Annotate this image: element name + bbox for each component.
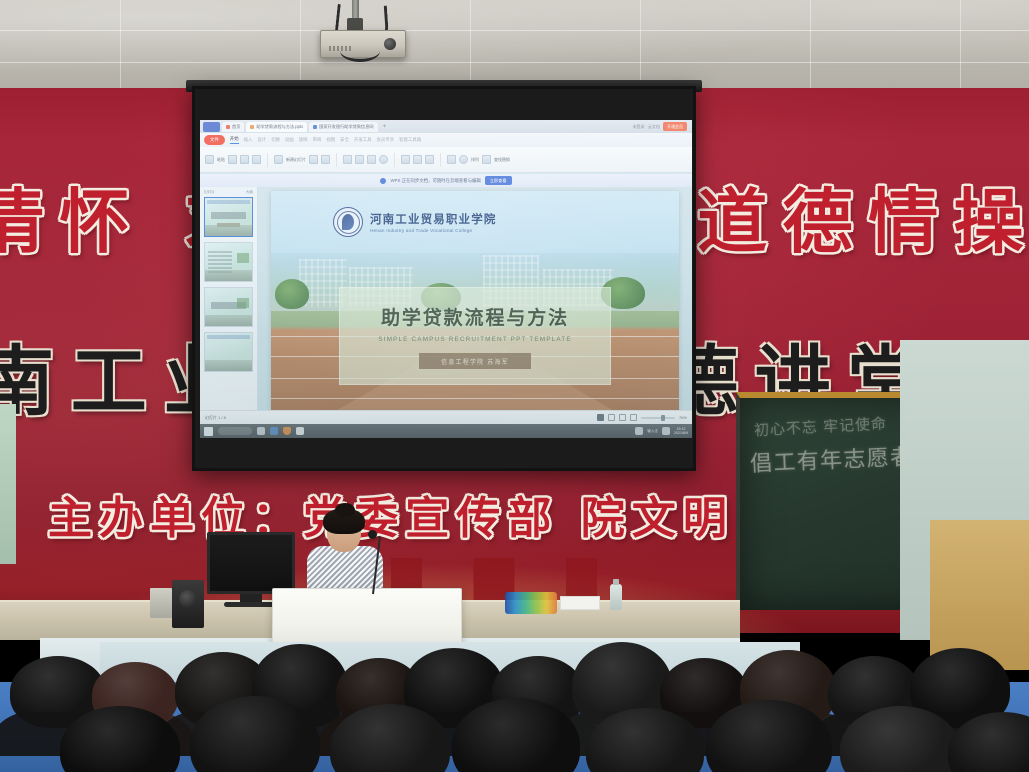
presenter-hair-bun [335,503,355,517]
doc-tab-presentation[interactable]: 助学贷款流程与方法.pptx [246,122,307,132]
school-name-cn: 河南工业贸易职业学院 [370,211,497,227]
ribbon-tab-slideshow[interactable]: 放映 [299,137,308,143]
ceiling [0,0,1029,92]
doc-tab-home-label: 首页 [232,124,240,130]
ribbon-tab-view[interactable]: 视图 [326,137,335,143]
slide-school-header: 河南工业贸易职业学院 Henan Industry and Trade Voca… [271,191,679,253]
status-right-group: 76% [597,414,687,421]
microphone-icon [368,530,377,539]
wps-ribbon-tabs: 文件 开始 插入 设计 切换 动画 放映 审阅 视图 安全 开发工具 会员专享 … [200,133,692,147]
start-icon[interactable] [204,427,213,436]
sync-notice-bar: WPS 正在同步文档，可随时在云端查看与编辑 立即查看 [200,174,692,187]
ribbon-tab-security[interactable]: 安全 [340,137,349,143]
zoom-slider[interactable] [641,417,675,419]
slide-presenter-chip: 信息工程学院 苏海军 [419,353,531,369]
projected-desktop: 首页 助学贷款流程与方法.pptx 国家开发银行助学贷款信息网 + 未登录 · … [200,120,692,438]
new-slide-icon[interactable] [274,155,283,164]
paste-label: 粘贴 [217,157,225,163]
arrange-label: 排列 [471,157,479,163]
ribbon-tab-review[interactable]: 审阅 [313,137,322,143]
ribbon-tab-insert[interactable]: 插入 [244,137,253,143]
slide-thumbnail-pane[interactable]: 幻灯片 大纲 [200,187,258,410]
projector-wire [340,40,380,62]
thumb3-image [237,298,249,308]
doc-tab-presentation-label: 助学贷款流程与方法.pptx [256,124,303,130]
windows-taskbar: 输入法 15:12 2021/6/9 [200,424,692,438]
ribbon-tab-start[interactable]: 开始 [230,136,239,144]
slide-counter: 幻灯片 1 / 8 [205,415,226,421]
align-left-icon[interactable] [401,155,410,164]
slide-thumbnail-4[interactable] [204,332,253,372]
slide-thumbnail-2[interactable] [204,242,253,282]
blackboard-line-1: 初心不忘 牢记使命 [754,413,888,441]
banner-text-top-right: 道德情操 [697,166,1029,267]
doc-tab-browser[interactable]: 国家开发银行助学贷款信息网 [309,122,377,132]
sync-notice-button[interactable]: 立即查看 [485,176,512,185]
thumbnail-pane-header: 幻灯片 大纲 [202,190,255,197]
thumb3-ground [205,315,252,326]
audience-area [0,608,1029,772]
tabbar-right-group: 未登录 · 云文档 开通会员 [632,122,689,131]
ribbon-tab-toolbox[interactable]: 智能工具箱 [399,137,421,143]
underline-icon[interactable] [367,155,376,164]
italic-icon[interactable] [355,155,364,164]
network-icon[interactable] [635,427,643,435]
toolbar-group-clipboard: 粘贴 [205,155,261,164]
left-wall-panel [0,404,16,564]
wps-logo-icon[interactable] [203,122,220,132]
lecture-hall-scene: 情怀 求 道德情操 南工业 德讲堂 主办单位：党委宣传部 院文明 初心不忘 牢记… [0,0,1029,772]
toolbar-group-slides: 新建幻灯片 [274,155,330,164]
zoom-level[interactable]: 76% [679,415,687,420]
slide-sorter-icon[interactable] [608,414,615,421]
sync-notice-text: WPS 正在同步文档，可随时在云端查看与编辑 [390,178,480,184]
find-replace-label: 查找替换 [494,157,510,163]
task-view-icon[interactable] [257,427,265,435]
thumb4-ground [205,360,252,371]
wps-tabbar: 首页 助学贷款流程与方法.pptx 国家开发银行助学贷款信息网 + 未登录 · … [200,120,692,133]
slide-title-card[interactable]: 助学贷款流程与方法 SIMPLE CAMPUS RECRUITMENT PPT … [339,287,611,385]
cut-icon[interactable] [228,155,237,164]
volume-icon[interactable] [662,427,670,435]
toolbar-divider-2 [336,153,337,167]
toolbar-group-font [343,155,388,164]
projector-lens-icon [384,38,396,50]
wps-status-bar: 幻灯片 1 / 8 76% [200,410,692,424]
thumb4-header [207,335,250,339]
thumbnail-tab-outline[interactable]: 大纲 [246,190,253,195]
school-name-block: 河南工业贸易职业学院 Henan Industry and Trade Voca… [370,211,497,234]
edge-icon[interactable] [270,427,278,435]
font-color-icon[interactable] [379,155,388,164]
thumb2-ground [205,270,252,281]
ribbon-tab-transition[interactable]: 切换 [271,137,280,143]
slideshow-icon[interactable] [630,414,637,421]
podium-monitor [207,532,295,594]
college-logo-icon [333,207,363,237]
monitor-base [224,602,278,607]
ime-indicator[interactable]: 输入法 [647,429,658,434]
water-bottle [610,584,622,610]
bold-icon[interactable] [343,155,352,164]
reading-view-icon[interactable] [619,414,626,421]
slide-editing-area[interactable]: 河南工业贸易职业学院 Henan Industry and Trade Voca… [258,187,692,410]
thumb1-header [207,200,250,204]
thumb2-image [237,253,249,263]
file-explorer-icon[interactable] [283,427,291,435]
toolbar-group-paragraph [401,155,434,164]
file-menu-button[interactable]: 文件 [204,135,225,145]
paste-icon[interactable] [205,155,214,164]
current-slide[interactable]: 河南工业贸易职业学院 Henan Industry and Trade Voca… [271,191,679,417]
wps-toolbar: 粘贴 新建幻灯片 [200,147,692,173]
school-name-en: Henan Industry and Trade Vocational Coll… [370,228,497,233]
normal-view-icon[interactable] [597,414,604,421]
doc-tab-home[interactable]: 首页 [222,122,244,132]
banner-text-host: 主办单位：党委宣传部 院文明 [48,482,734,546]
line-spacing-icon[interactable] [425,155,434,164]
align-center-icon[interactable] [413,155,422,164]
slide-thumbnail-1[interactable] [204,197,253,237]
ribbon-tab-animation[interactable]: 动画 [285,137,294,143]
clock-date: 2021/6/9 [674,431,688,435]
slide-title: 助学贷款流程与方法 [381,303,569,330]
wps-taskbar-icon[interactable] [296,427,304,435]
toolbar-group-drawing: 排列 查找替换 [447,155,510,164]
ribbon-tab-devtools[interactable]: 开发工具 [354,137,372,143]
new-slide-label: 新建幻灯片 [286,157,306,163]
campus-tree-1 [275,279,309,309]
home-icon [226,125,230,129]
browser-icon [313,125,317,129]
thumb1-title [211,212,246,219]
slide-thumbnail-3[interactable] [204,287,253,327]
fill-color-icon[interactable] [459,155,468,164]
search-input[interactable] [218,427,252,435]
copy-icon[interactable] [240,155,249,164]
find-replace-icon[interactable] [482,155,491,164]
shapes-icon[interactable] [447,155,456,164]
thumbnail-tab-slides[interactable]: 幻灯片 [204,190,215,195]
toolbar-divider-4 [440,153,441,167]
section-icon[interactable] [321,155,330,164]
format-painter-icon[interactable] [252,155,261,164]
layout-icon[interactable] [309,155,318,164]
thumb1-ground [205,225,252,236]
pptx-file-icon [250,125,254,129]
system-tray: 输入法 15:12 2021/6/9 [635,427,688,436]
slide-subtitle: SIMPLE CAMPUS RECRUITMENT PPT TEMPLATE [378,336,572,343]
toolbar-divider-1 [267,153,268,167]
cloud-icon [380,178,386,184]
taskbar-clock[interactable]: 15:12 2021/6/9 [674,427,688,436]
account-status-label[interactable]: 未登录 · 云文档 [632,124,660,130]
ribbon-tab-design[interactable]: 设计 [257,137,266,143]
new-tab-button[interactable]: + [380,124,390,130]
ribbon-tab-member[interactable]: 会员专享 [377,137,395,143]
doc-tab-browser-label: 国家开发银行助学贷款信息网 [319,124,373,130]
toolbar-divider-3 [394,153,395,167]
upgrade-button[interactable]: 开通会员 [663,122,687,131]
